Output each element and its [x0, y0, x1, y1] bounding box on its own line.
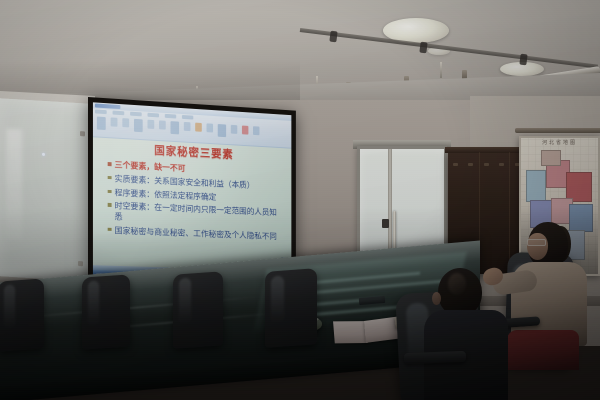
lap-bag [507, 330, 579, 370]
glass-whiteboard[interactable]: glass-whiteboard [0, 98, 95, 282]
door-handle[interactable] [393, 211, 396, 249]
ear [432, 292, 441, 305]
cabinet-handle-icon[interactable] [453, 163, 458, 166]
cabinet-handle-icon[interactable] [484, 163, 489, 166]
ribbon-tab [148, 113, 160, 118]
chair-highlight [271, 275, 283, 323]
ribbon-icon [231, 125, 237, 134]
ribbon-tab [113, 111, 125, 116]
track-lamp-icon [329, 31, 337, 43]
hair-highlight [448, 273, 466, 295]
ribbon-icon [171, 121, 180, 134]
chair-highlight [179, 278, 191, 325]
door-label: Glass door [360, 149, 361, 150]
chair[interactable] [265, 268, 317, 348]
slide-bullet: 时空要素：在一定时间内只限一定范围的人员知悉 [108, 200, 284, 228]
chair-highlight [88, 281, 100, 326]
notebook-right-page [364, 317, 398, 343]
meeting-room-photo: glass-whiteboard [0, 0, 600, 400]
chair-armrest [404, 351, 466, 364]
whiteboard-clip [80, 131, 85, 136]
ribbon-icon [206, 123, 213, 132]
ribbon-icon [195, 123, 202, 132]
ribbon-icon [242, 126, 248, 135]
whiteboard-clip [78, 261, 83, 266]
eyeglasses-icon [527, 239, 546, 246]
ribbon-tab [130, 112, 142, 117]
person-speaker [505, 222, 591, 372]
whiteboard-glare [6, 129, 22, 240]
door-lock-icon[interactable] [382, 219, 389, 228]
chair-highlight [4, 285, 15, 329]
face [527, 233, 548, 260]
ribbon-icon [134, 119, 143, 132]
slide-bullet-list: 三个要素，缺一不可 实质要素：关系国家安全和利益（本质） 程序要素：依照法定程序… [101, 159, 284, 242]
ribbon-icon [111, 117, 118, 126]
ribbon-icon [148, 120, 155, 129]
ribbon-tab [182, 115, 193, 120]
open-notebook[interactable] [333, 318, 399, 347]
ribbon-icon [159, 120, 166, 129]
ribbon-icon [218, 124, 226, 137]
ribbon-icon [97, 117, 106, 130]
track-light-rail [300, 28, 598, 69]
map-hanging-rod [515, 128, 600, 133]
slide-content: 国家秘密三要素 三个要素，缺一不可 实质要素：关系国家安全和利益（本质） 程序要… [93, 136, 291, 271]
ribbon-icon [184, 122, 191, 131]
ribbon-tab [95, 109, 107, 114]
pipe-hanger [440, 62, 442, 78]
ribbon-icon [122, 118, 129, 127]
ribbon-icon [253, 126, 259, 135]
cabinet-handle-icon[interactable] [499, 163, 504, 166]
chair[interactable] [173, 271, 223, 348]
cabinet-handle-icon[interactable] [468, 163, 473, 166]
chair[interactable] [0, 278, 44, 351]
notebook-left-page [333, 321, 368, 343]
ribbon-tab [165, 114, 176, 119]
chair[interactable] [82, 274, 130, 349]
track-lamp-icon [519, 54, 527, 66]
person-attendee [424, 268, 508, 400]
track-lamp-icon [419, 42, 427, 54]
whiteboard-light-reflection [42, 153, 45, 156]
